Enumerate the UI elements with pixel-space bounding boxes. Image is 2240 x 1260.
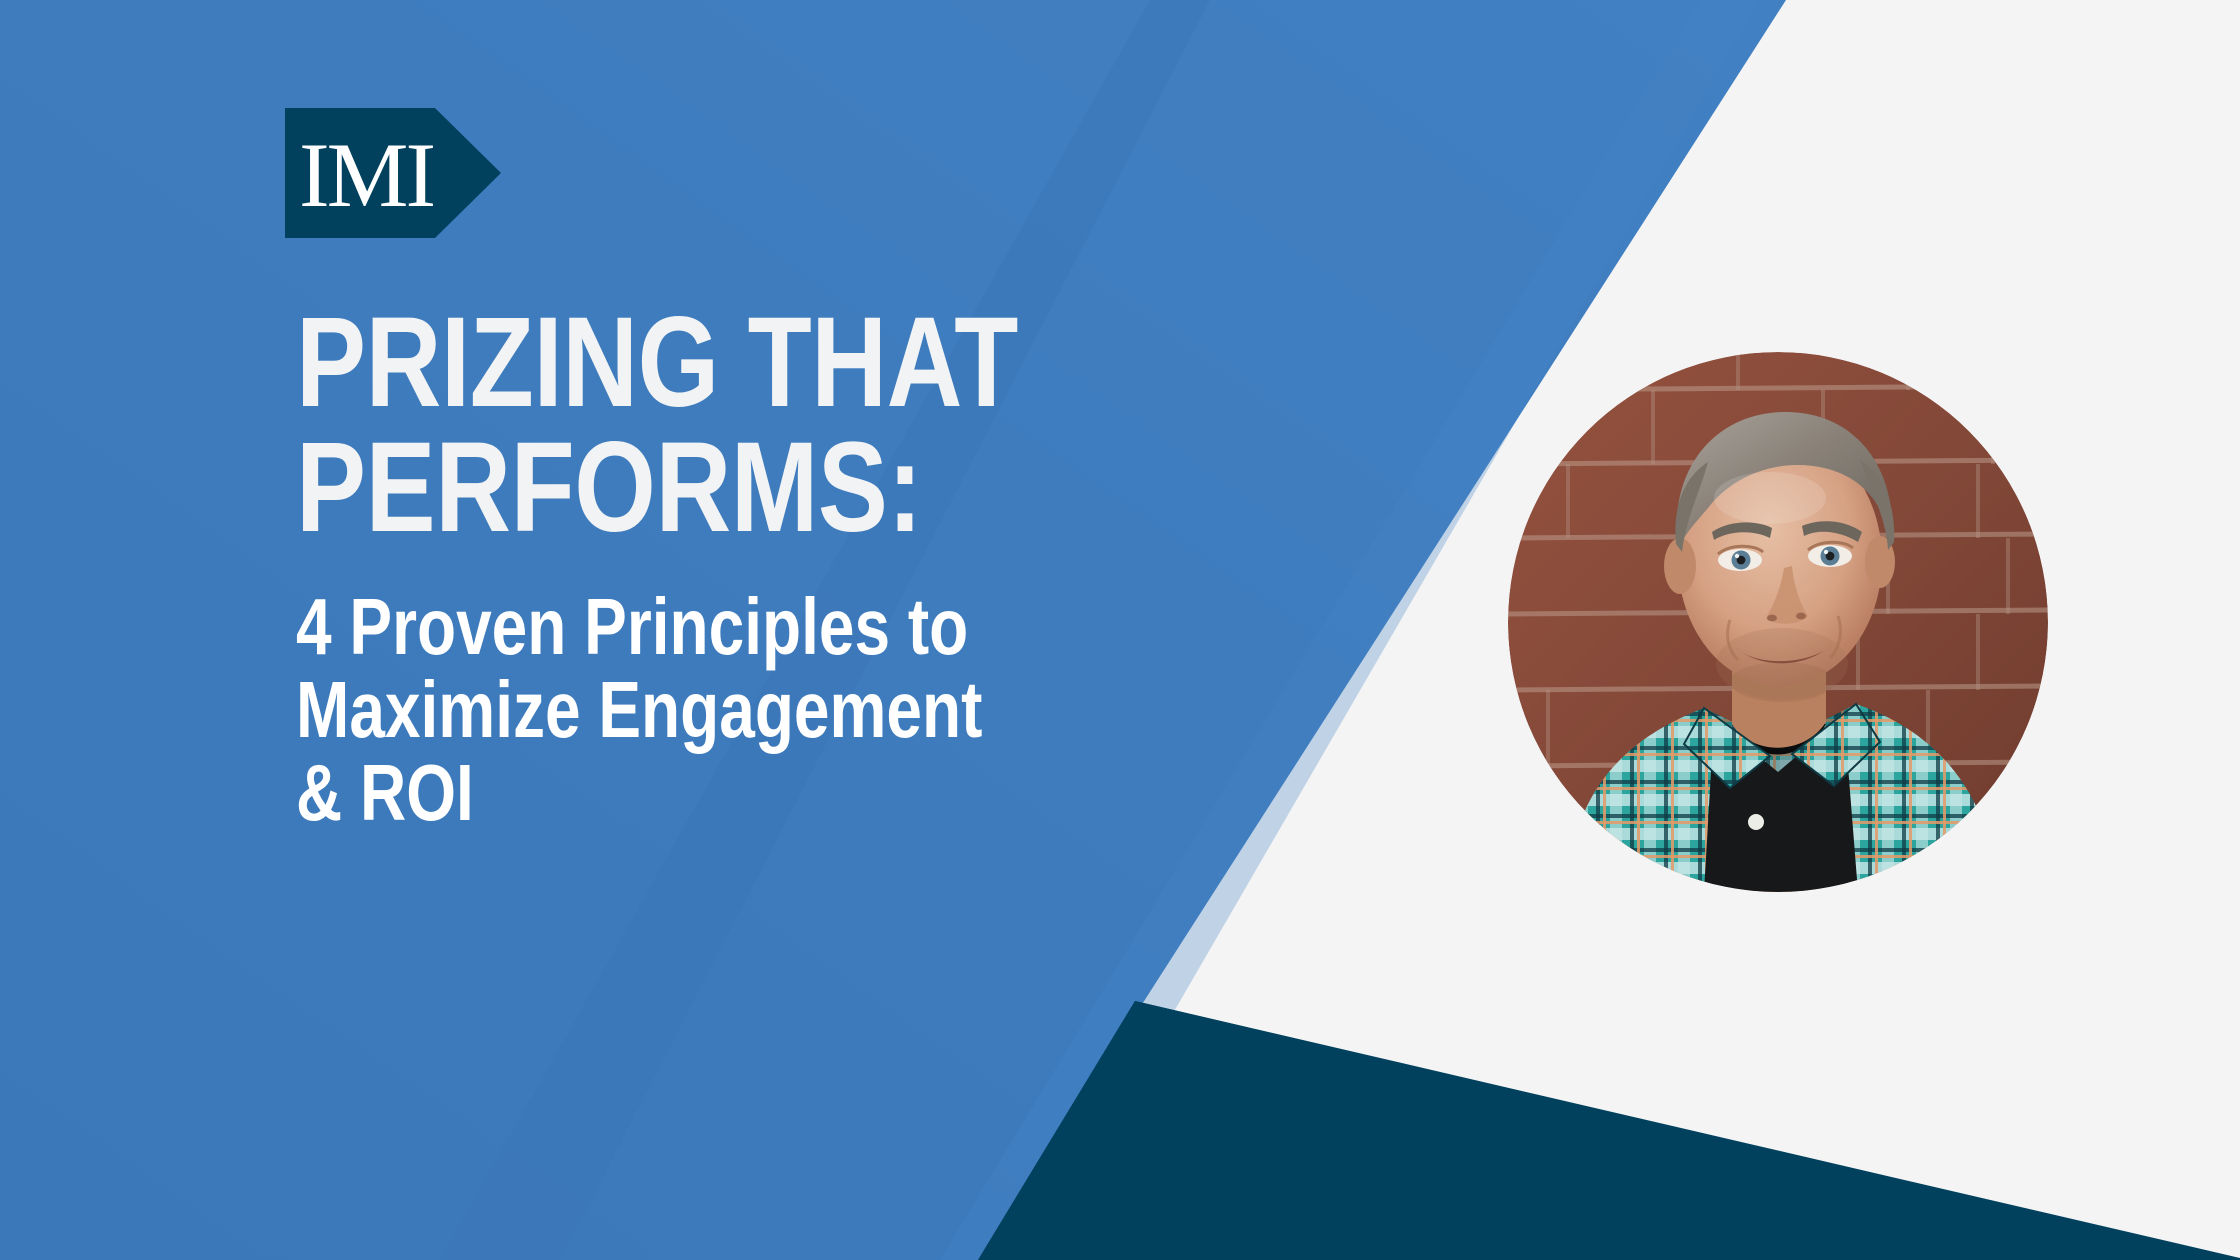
- page-title: PRIZING THAT PERFORMS:: [296, 300, 1034, 551]
- logo-wordmark: IMI: [299, 124, 433, 226]
- promo-banner: IMI PRIZING THAT PERFORMS: 4 Proven Prin…: [0, 0, 2240, 1260]
- speaker-headshot: [1508, 352, 2048, 892]
- title-group: PRIZING THAT PERFORMS: 4 Proven Principl…: [296, 300, 1196, 834]
- eye-highlight-left: [1735, 554, 1739, 558]
- page-subtitle: 4 Proven Principles to Maximize Engageme…: [296, 585, 1016, 835]
- shirt-button: [1748, 814, 1764, 830]
- headline-line-1: PRIZING THAT: [296, 300, 1034, 425]
- imi-logo[interactable]: IMI: [285, 108, 501, 238]
- nostril-left: [1767, 615, 1777, 622]
- forehead-highlight: [1714, 472, 1826, 524]
- subtitle-line-2: Maximize Engagement: [296, 668, 1016, 751]
- subtitle-line-3: & ROI: [296, 751, 1016, 834]
- eye-highlight-right: [1824, 550, 1828, 554]
- nostril-right: [1796, 613, 1806, 620]
- headline-line-2: PERFORMS:: [296, 425, 1034, 550]
- navy-triangle-main: [978, 1001, 2240, 1260]
- jaw-shadow: [1730, 662, 1834, 702]
- subtitle-line-1: 4 Proven Principles to: [296, 585, 1016, 668]
